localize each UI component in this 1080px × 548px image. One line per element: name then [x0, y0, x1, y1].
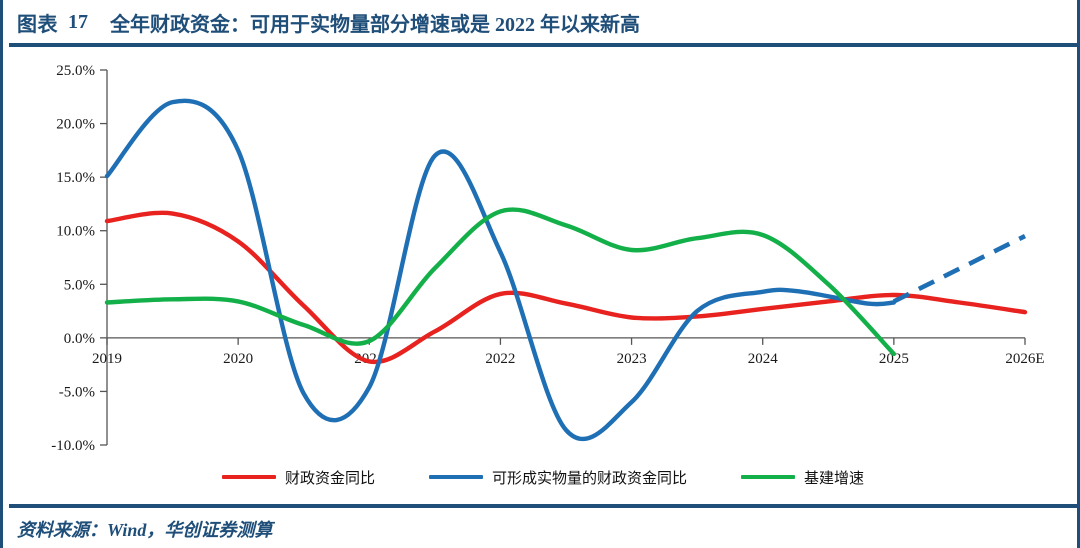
x-tick-label: 2026E [1005, 351, 1044, 367]
legend-label: 可形成实物量的财政资金同比 [492, 467, 687, 488]
y-tick-label: -5.0% [59, 384, 95, 400]
chart-legend: 财政资金同比可形成实物量的财政资金同比基建增速 [3, 462, 1080, 492]
figure-title-row: 图表 17 全年财政资金：可用于实物量部分增速或是 2022 年以来新高 [3, 0, 1080, 44]
source-text: 资料来源：Wind，华创证券测算 [17, 516, 272, 542]
x-tick-label: 2019 [92, 351, 122, 367]
chart-container: 25.0%20.0%15.0%10.0%5.0%0.0%-5.0%-10.0% … [3, 48, 1080, 500]
y-tick-label: 15.0% [56, 170, 95, 186]
legend-label: 基建增速 [804, 467, 864, 488]
y-axis-tick-labels: 25.0%20.0%15.0%10.0%5.0%0.0%-5.0%-10.0% [51, 63, 95, 454]
source-row: 资料来源：Wind，华创证券测算 [17, 514, 272, 544]
title-divider [9, 43, 1077, 47]
x-tick-label: 2023 [617, 351, 647, 367]
legend-item-1[interactable]: 财政资金同比 [222, 467, 375, 488]
legend-swatch-icon [741, 475, 795, 479]
series-line-2 [107, 101, 894, 439]
y-tick-label: 25.0% [56, 63, 95, 79]
x-tick-label: 2024 [748, 351, 779, 367]
chart-axes [100, 70, 1025, 445]
y-tick-label: 5.0% [64, 277, 95, 293]
y-tick-label: 20.0% [56, 117, 95, 133]
x-axis-tick-labels: 20192020202120222023202420252026E [92, 351, 1045, 367]
line-chart: 25.0%20.0%15.0%10.0%5.0%0.0%-5.0%-10.0% … [3, 48, 1080, 500]
figure-number: 17 [68, 11, 88, 34]
y-tick-label: -10.0% [51, 438, 95, 454]
legend-item-3[interactable]: 基建增速 [741, 467, 864, 488]
legend-swatch-icon [222, 475, 276, 479]
figure-label: 图表 [17, 8, 58, 37]
series-line-3 [894, 236, 1025, 301]
figure-panel: 图表 17 全年财政资金：可用于实物量部分增速或是 2022 年以来新高 25.… [0, 0, 1080, 548]
x-tick-label: 2022 [485, 351, 515, 367]
y-tick-label: 0.0% [64, 331, 95, 347]
footer-divider [9, 504, 1077, 508]
legend-swatch-icon [429, 475, 483, 479]
x-tick-label: 2020 [223, 351, 253, 367]
page-title: 全年财政资金：可用于实物量部分增速或是 2022 年以来新高 [110, 8, 640, 37]
chart-series-group [107, 101, 1025, 439]
y-tick-label: 10.0% [56, 224, 95, 240]
legend-label: 财政资金同比 [285, 467, 375, 488]
series-line-1 [107, 213, 1025, 362]
legend-item-2[interactable]: 可形成实物量的财政资金同比 [429, 467, 687, 488]
